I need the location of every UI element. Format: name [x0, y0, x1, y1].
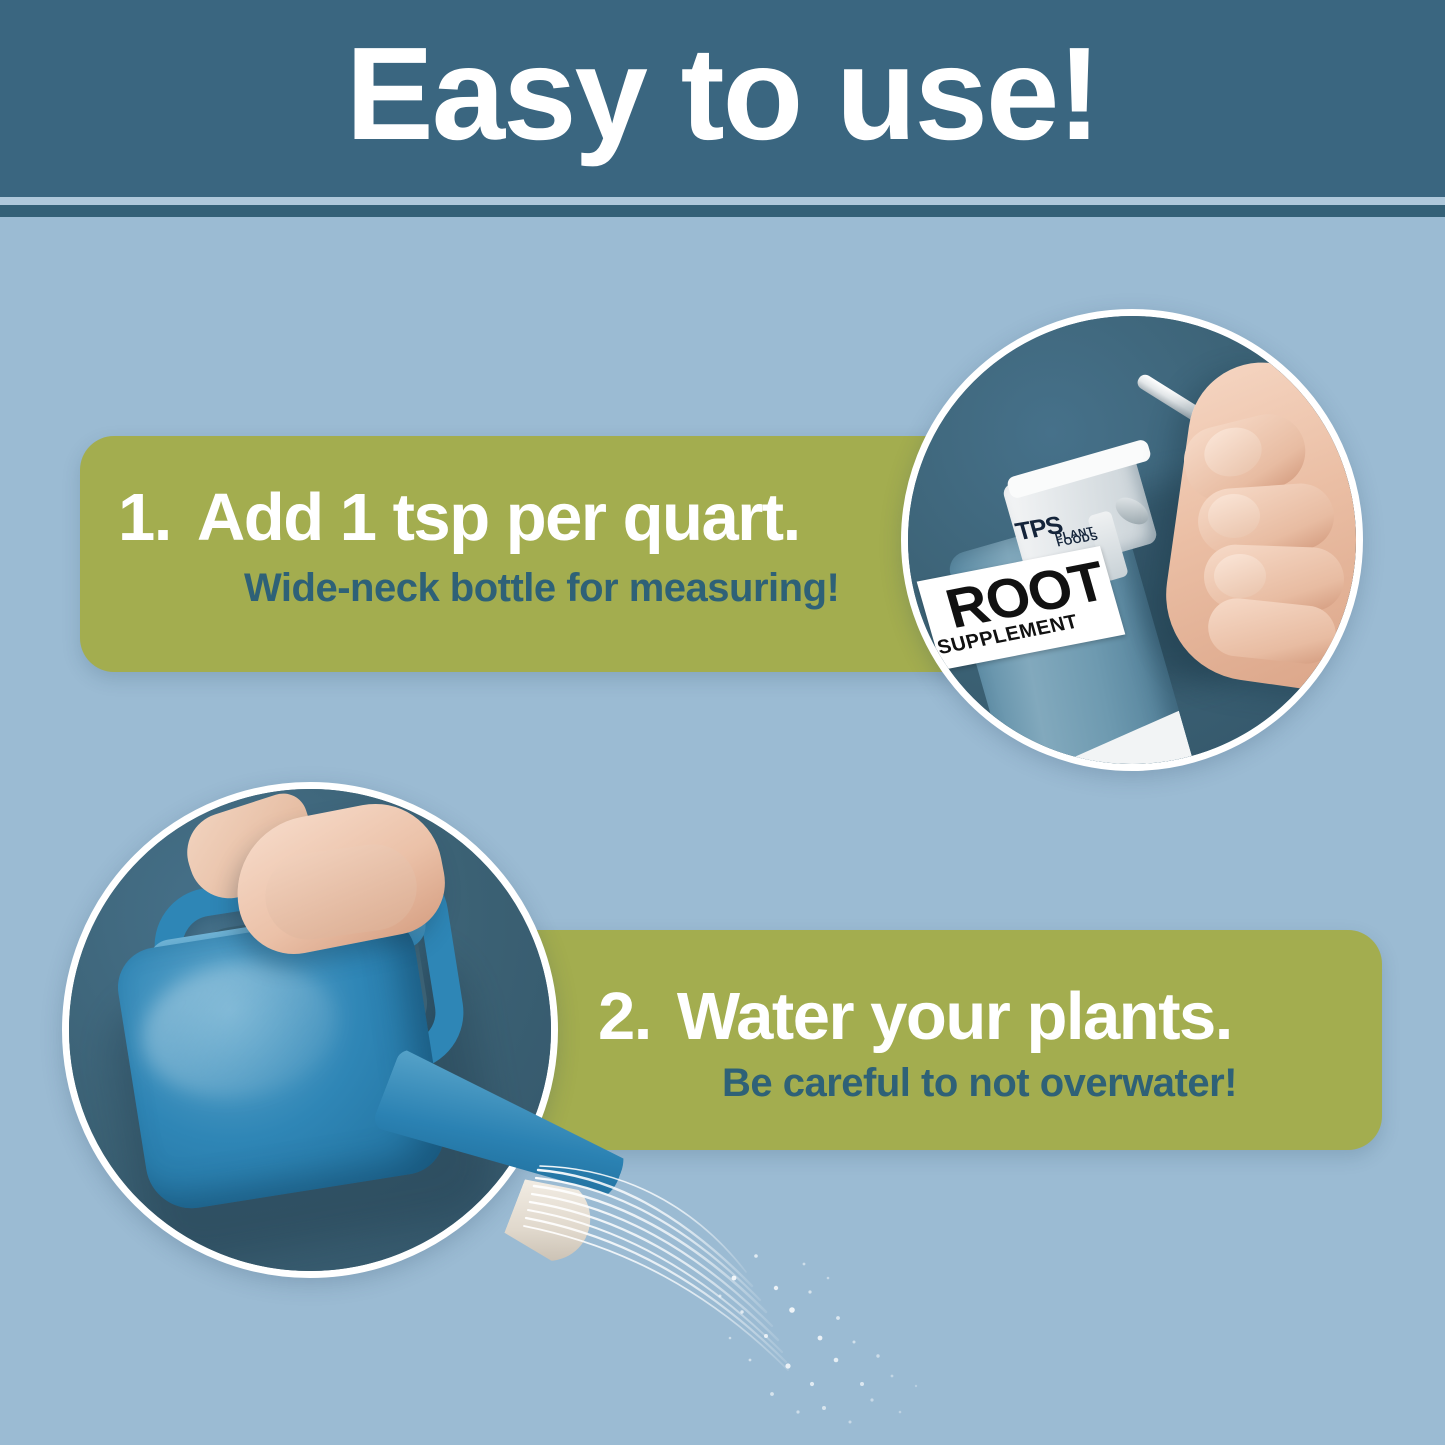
measuring-photo-clip: TPS PLANT FOODS ROOT SUPPLEMENT	[908, 316, 1356, 764]
middle-finger-nail	[1214, 554, 1266, 598]
step-2-headline-text: Water your plants.	[677, 979, 1232, 1054]
photo-circle-measuring: TPS PLANT FOODS ROOT SUPPLEMENT	[901, 309, 1363, 771]
step-1-headline-text: Add 1 tsp per quart.	[197, 480, 800, 555]
step-2-headline: 2.Water your plants.	[598, 983, 1232, 1050]
photo-circle-watering	[62, 782, 558, 1278]
step-2-subtext: Be careful to not overwater!	[722, 1063, 1237, 1103]
index-finger-nail	[1208, 494, 1260, 538]
divider-dark-stripe	[0, 205, 1445, 217]
bottle-white-band	[1004, 711, 1199, 764]
step-1-subtext: Wide-neck bottle for measuring!	[244, 568, 839, 608]
watering-can-highlight	[132, 949, 347, 1112]
page-title: Easy to use!	[0, 28, 1445, 160]
step-1-headline: 1.Add 1 tsp per quart.	[118, 484, 800, 551]
infographic-canvas: Easy to use! TPS PLANT FOODS ROOT SUPPLE…	[0, 0, 1445, 1445]
step-1-number: 1.	[118, 480, 171, 555]
watering-photo-clip	[69, 789, 551, 1271]
step-2-number: 2.	[598, 979, 651, 1054]
divider-light-stripe	[0, 197, 1445, 205]
